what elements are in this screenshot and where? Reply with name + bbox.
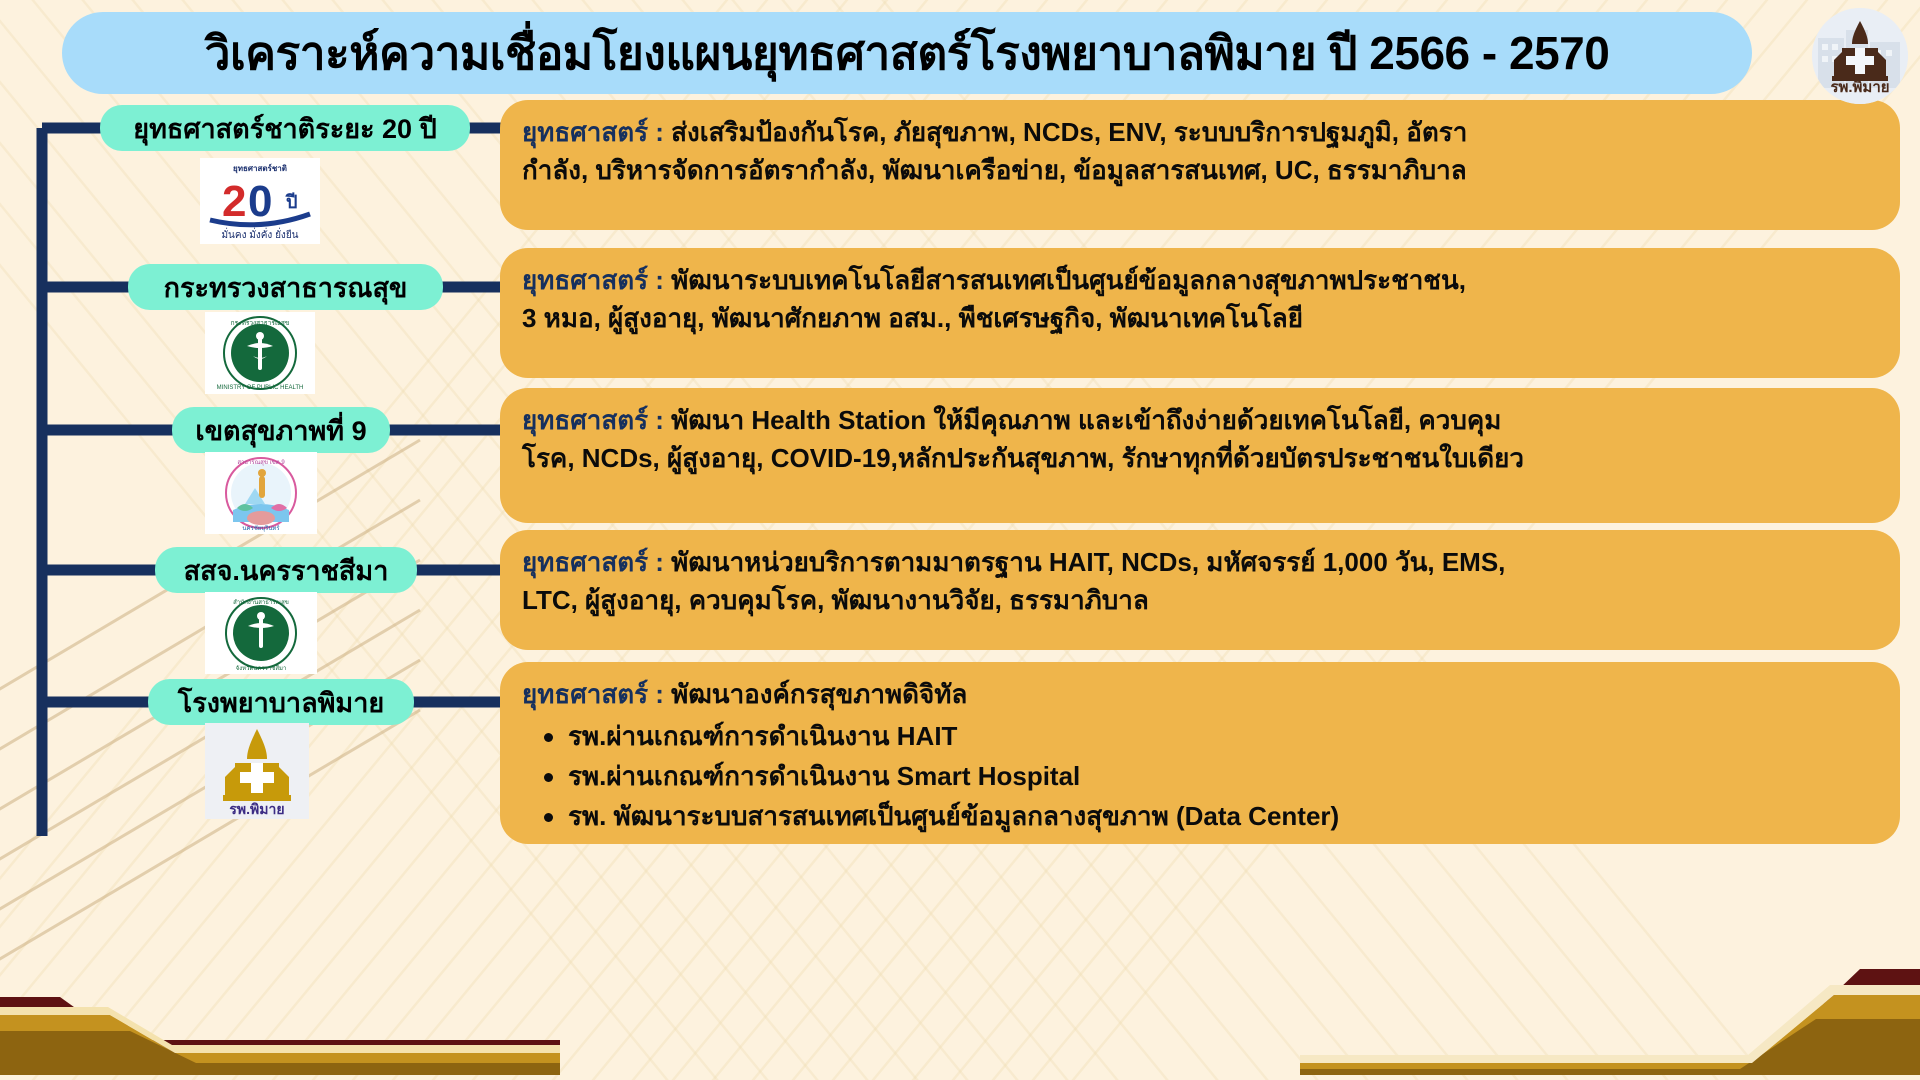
label-chip-nakhon-ratchasima-pho[interactable]: สสจ.นครราชสีมา <box>155 547 417 593</box>
decorative-corner-left <box>0 945 560 1080</box>
label-chip-text: กระทรวงสาธารณสุข <box>164 266 408 309</box>
strategy-keyword: ยุทธศาสตร์ : <box>522 405 664 435</box>
page-title: วิเคราะห์ความเชื่อมโยงแผนยุทธศาสตร์โรงพย… <box>205 17 1610 90</box>
content-line: ยุทธศาสตร์ : ส่งเสริมป้องกันโรค, ภัยสุขภ… <box>522 114 1876 152</box>
label-chip-text: โรงพยาบาลพิมาย <box>178 681 384 724</box>
strategy-text: 3 หมอ, ผู้สูงอายุ, พัฒนาศักยภาพ อสม., พื… <box>522 303 1303 333</box>
svg-text:นครชัยบุรินทร์: นครชัยบุรินทร์ <box>242 524 280 532</box>
content-line: โรค, NCDs, ผู้สูงอายุ, COVID-19,หลักประก… <box>522 440 1876 478</box>
label-chip-text: สสจ.นครราชสีมา <box>184 549 389 592</box>
label-chip-ministry-of-public-health[interactable]: กระทรวงสาธารณสุข <box>128 264 443 310</box>
svg-text:รพ.พิมาย: รพ.พิมาย <box>1830 78 1889 96</box>
svg-text:0: 0 <box>248 177 272 226</box>
strategy-text: LTC, ผู้สูงอายุ, ควบคุมโรค, พัฒนางานวิจั… <box>522 585 1149 615</box>
strategy-text: ส่งเสริมป้องกันโรค, ภัยสุขภาพ, NCDs, ENV… <box>664 117 1467 147</box>
strategy-text: พัฒนาหน่วยบริการตามมาตรฐาน HAIT, NCDs, ม… <box>664 547 1505 577</box>
content-line: ยุทธศาสตร์ : พัฒนา Health Station ให้มีค… <box>522 402 1876 440</box>
svg-text:กระทรวงสาธารณสุข: กระทรวงสาธารณสุข <box>231 320 290 327</box>
strategy-keyword: ยุทธศาสตร์ : <box>522 117 664 147</box>
strategy-text: โรค, NCDs, ผู้สูงอายุ, COVID-19,หลักประก… <box>522 443 1524 473</box>
svg-text:สาธารณสุข เขต 9: สาธารณสุข เขต 9 <box>237 459 285 466</box>
phimai-hospital-logo: รพ.พิมาย <box>1812 8 1908 104</box>
strategy-bullet-item: รพ.ผ่านเกณฑ์การดำเนินงาน Smart Hospital <box>568 756 1876 796</box>
label-chip-text: ยุทธศาสตร์ชาติระยะ 20 ปี <box>133 107 436 150</box>
svg-text:มั่นคง มั่งคั่ง ยั่งยืน: มั่นคง มั่งคั่ง ยั่งยืน <box>221 227 298 241</box>
content-box-nakhon-ratchasima-pho: ยุทธศาสตร์ : พัฒนาหน่วยบริการตามมาตรฐาน … <box>500 530 1900 650</box>
content-line: ยุทธศาสตร์ : พัฒนาหน่วยบริการตามมาตรฐาน … <box>522 544 1876 582</box>
page-title-bar: วิเคราะห์ความเชื่อมโยงแผนยุทธศาสตร์โรงพย… <box>62 12 1752 94</box>
content-line: LTC, ผู้สูงอายุ, ควบคุมโรค, พัฒนางานวิจั… <box>522 582 1876 620</box>
strategy-keyword: ยุทธศาสตร์ : <box>522 265 664 295</box>
content-box-health-region-9: ยุทธศาสตร์ : พัฒนา Health Station ให้มีค… <box>500 388 1900 523</box>
svg-text:รพ.พิมาย: รพ.พิมาย <box>229 801 284 817</box>
content-box-national-strategy: ยุทธศาสตร์ : ส่งเสริมป้องกันโรค, ภัยสุขภ… <box>500 100 1900 230</box>
strategy-bullet-item: รพ.ผ่านเกณฑ์การดำเนินงาน HAIT <box>568 716 1876 756</box>
label-chip-phimai-hospital[interactable]: โรงพยาบาลพิมาย <box>148 679 414 725</box>
content-line: กำลัง, บริหารจัดการอัตรากำลัง, พัฒนาเครื… <box>522 152 1876 190</box>
svg-text:สำนักงานสาธารณสุข: สำนักงานสาธารณสุข <box>233 599 289 606</box>
national-strategy-20-years-logo: ยุทธศาสตร์ชาติ 2 0 ปี มั่นคง มั่งคั่ง ยั… <box>200 158 320 244</box>
strategy-text: พัฒนา Health Station ให้มีคุณภาพ และเข้า… <box>664 405 1501 435</box>
content-line: ยุทธศาสตร์ : พัฒนาองค์กรสุขภาพดิจิทัล <box>522 676 1876 714</box>
strategy-keyword: ยุทธศาสตร์ : <box>522 547 664 577</box>
strategy-text: พัฒนาองค์กรสุขภาพดิจิทัล <box>664 679 967 709</box>
svg-text:ปี: ปี <box>285 192 298 212</box>
content-line: ยุทธศาสตร์ : พัฒนาระบบเทคโนโลยีสารสนเทศเ… <box>522 262 1876 300</box>
ministry-of-public-health-logo: กระทรวงสาธารณสุข MINISTRY OF PUBLIC HEAL… <box>205 312 315 394</box>
svg-text:2: 2 <box>222 177 246 226</box>
svg-text:ยุทธศาสตร์ชาติ: ยุทธศาสตร์ชาติ <box>233 163 287 174</box>
nakhon-ratchasima-provincial-health-office-logo: สำนักงานสาธารณสุข จังหวัดนครราชสีมา <box>205 592 317 674</box>
content-box-ministry-of-public-health: ยุทธศาสตร์ : พัฒนาระบบเทคโนโลยีสารสนเทศเ… <box>500 248 1900 378</box>
label-chip-health-region-9[interactable]: เขตสุขภาพที่ 9 <box>172 407 390 453</box>
decorative-corner-right <box>1300 935 1920 1080</box>
strategy-bullet-list: รพ.ผ่านเกณฑ์การดำเนินงาน HAIT รพ.ผ่านเกณ… <box>522 716 1876 837</box>
strategy-keyword: ยุทธศาสตร์ : <box>522 679 664 709</box>
strategy-text: กำลัง, บริหารจัดการอัตรากำลัง, พัฒนาเครื… <box>522 155 1467 185</box>
health-region-9-logo: สาธารณสุข เขต 9 นครชัยบุรินทร์ <box>205 452 317 534</box>
strategy-text: พัฒนาระบบเทคโนโลยีสารสนเทศเป็นศูนย์ข้อมู… <box>664 265 1466 295</box>
phimai-hospital-logo: รพ.พิมาย <box>205 723 309 819</box>
svg-text:MINISTRY OF PUBLIC HEALTH: MINISTRY OF PUBLIC HEALTH <box>217 385 304 391</box>
svg-text:จังหวัดนครราชสีมา: จังหวัดนครราชสีมา <box>236 664 287 672</box>
label-chip-national-strategy[interactable]: ยุทธศาสตร์ชาติระยะ 20 ปี <box>100 105 470 151</box>
strategy-bullet-item: รพ. พัฒนาระบบสารสนเทศเป็นศูนย์ข้อมูลกลาง… <box>568 796 1876 836</box>
label-chip-text: เขตสุขภาพที่ 9 <box>195 409 366 452</box>
content-line: 3 หมอ, ผู้สูงอายุ, พัฒนาศักยภาพ อสม., พื… <box>522 300 1876 338</box>
content-box-phimai-hospital: ยุทธศาสตร์ : พัฒนาองค์กรสุขภาพดิจิทัล รพ… <box>500 662 1900 844</box>
